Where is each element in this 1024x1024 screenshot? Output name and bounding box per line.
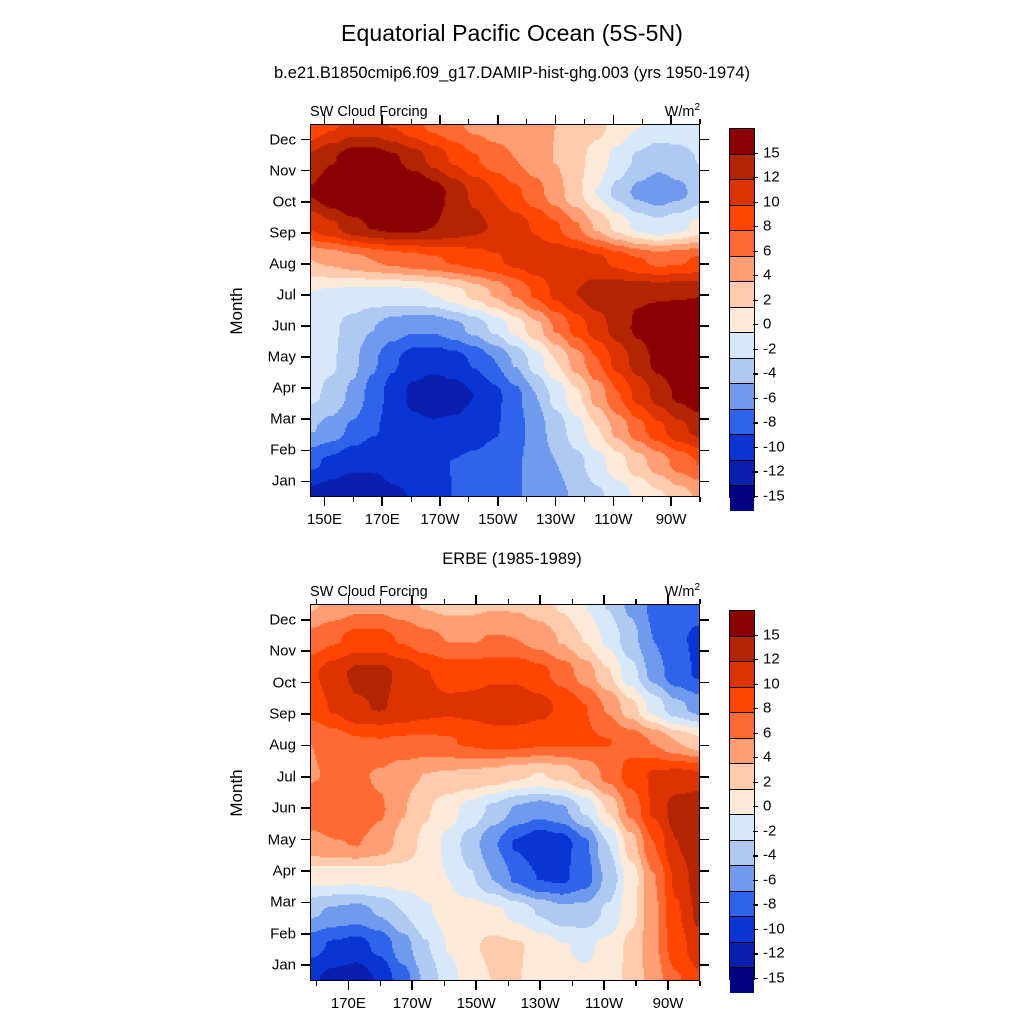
y-axis-label: Aug xyxy=(248,737,296,754)
y-tick-right xyxy=(700,201,709,203)
x-axis-label: 130W xyxy=(536,511,575,528)
colorbar-swatch xyxy=(730,129,754,155)
colorbar-swatch xyxy=(730,461,754,487)
colorbar-tick xyxy=(753,300,758,301)
colorbar-label: -15 xyxy=(763,488,785,505)
colorbar-swatch xyxy=(730,713,754,739)
y-axis-label: Aug xyxy=(248,255,296,272)
x-axis-label: 90W xyxy=(656,511,687,528)
colorbar-tick xyxy=(753,202,758,203)
colorbar-swatch xyxy=(730,917,754,943)
panel-header-erbe: SW Cloud Forcing W/m2 xyxy=(310,578,700,600)
colorbar-swatch xyxy=(730,943,754,969)
colorbar-tick xyxy=(753,496,758,497)
panel-header-model: SW Cloud Forcing W/m2 xyxy=(310,98,700,120)
colorbar-label: 15 xyxy=(763,626,780,643)
x-tick-major xyxy=(670,497,672,506)
colorbar-swatch xyxy=(730,611,754,637)
colorbar-tick xyxy=(753,855,758,856)
colorbar-label: -2 xyxy=(763,340,776,357)
y-tick-right xyxy=(700,481,709,483)
variable-label-model: SW Cloud Forcing xyxy=(310,104,428,120)
colorbar-tick xyxy=(753,733,758,734)
colorbar-model: 15121086420-2-4-6-8-10-12-15 xyxy=(729,128,799,496)
y-axis-label: Feb xyxy=(248,442,296,459)
units-label-erbe: W/m2 xyxy=(665,582,700,600)
colorbar-gradient xyxy=(729,610,755,980)
colorbar-swatch xyxy=(730,359,754,385)
units-label-model: W/m2 xyxy=(665,102,700,120)
y-tick xyxy=(301,263,310,265)
colorbar-tick xyxy=(753,422,758,423)
colorbar-label: 0 xyxy=(763,316,771,333)
y-axis-label: Sep xyxy=(248,705,296,722)
colorbar-label: -8 xyxy=(763,896,776,913)
y-axis-label: May xyxy=(248,831,296,848)
x-tick-major xyxy=(439,497,441,506)
x-axis-label: 130W xyxy=(521,995,560,1012)
colorbar-swatch xyxy=(730,892,754,918)
colorbar-tick xyxy=(753,978,758,979)
colorbar-label: -12 xyxy=(763,945,785,962)
x-tick-minor xyxy=(380,981,381,986)
y-tick-right xyxy=(700,387,709,389)
colorbar-swatch xyxy=(730,739,754,765)
colorbar-gradient xyxy=(729,128,755,498)
colorbar-swatch xyxy=(730,866,754,892)
colorbar-swatch xyxy=(730,333,754,359)
colorbar-swatch xyxy=(730,841,754,867)
x-axis-label: 170E xyxy=(331,995,366,1012)
colorbar-swatch xyxy=(730,206,754,232)
y-axis-label: May xyxy=(248,349,296,366)
y-axis-label: Sep xyxy=(248,224,296,241)
erbe-subtitle: ERBE (1985-1989) xyxy=(0,550,1024,569)
y-tick xyxy=(301,682,310,684)
x-axis-label: 170W xyxy=(393,995,432,1012)
x-tick-major xyxy=(555,497,557,506)
y-tick xyxy=(301,650,310,652)
colorbar-tick xyxy=(753,708,758,709)
colorbar-swatch xyxy=(730,435,754,461)
x-axis-label: 150W xyxy=(457,995,496,1012)
y-tick-right xyxy=(700,418,709,420)
y-tick-right xyxy=(700,263,709,265)
y-tick xyxy=(301,325,310,327)
colorbar-label: 12 xyxy=(763,651,780,668)
x-tick-major xyxy=(324,497,326,506)
colorbar-tick xyxy=(753,447,758,448)
y-tick xyxy=(301,745,310,747)
y-tick-right xyxy=(700,745,709,747)
colorbar-label: 6 xyxy=(763,242,771,259)
x-axis-label: 110W xyxy=(594,511,632,528)
colorbar-tick xyxy=(753,806,758,807)
y-tick-right xyxy=(700,902,709,904)
x-tick-minor xyxy=(411,497,412,502)
colorbar-tick xyxy=(753,349,758,350)
x-tick-minor xyxy=(468,497,469,502)
y-axis-label: Feb xyxy=(248,925,296,942)
y-tick xyxy=(301,481,310,483)
x-tick-minor xyxy=(699,497,700,502)
y-axis-label: Dec xyxy=(248,611,296,628)
y-tick-right xyxy=(700,933,709,935)
variable-label-erbe: SW Cloud Forcing xyxy=(310,584,428,600)
y-tick-right xyxy=(700,839,709,841)
x-tick-major xyxy=(613,497,615,506)
colorbar-label: -12 xyxy=(763,463,785,480)
y-axis-label: Jul xyxy=(248,286,296,303)
colorbar-tick xyxy=(753,471,758,472)
colorbar-swatch xyxy=(730,155,754,181)
colorbar-label: 0 xyxy=(763,798,771,815)
colorbar-swatch xyxy=(730,410,754,436)
y-axis-label: Jan xyxy=(248,473,296,490)
colorbar-label: -4 xyxy=(763,365,776,382)
y-tick xyxy=(301,964,310,966)
y-axis-label: Nov xyxy=(248,643,296,660)
y-tick xyxy=(301,713,310,715)
colorbar-swatch xyxy=(730,968,754,993)
colorbar-erbe: 15121086420-2-4-6-8-10-12-15 xyxy=(729,610,799,978)
x-tick-minor xyxy=(584,497,585,502)
y-axis-label: Oct xyxy=(248,674,296,691)
colorbar-tick xyxy=(753,904,758,905)
colorbar-tick xyxy=(753,275,758,276)
colorbar-tick xyxy=(753,373,758,374)
colorbar-label: -6 xyxy=(763,871,776,888)
x-tick-minor xyxy=(444,981,445,986)
y-tick xyxy=(301,776,310,778)
colorbar-label: 12 xyxy=(763,169,780,186)
colorbar-label: 15 xyxy=(763,144,780,161)
y-tick-right xyxy=(700,870,709,872)
y-tick xyxy=(301,807,310,809)
y-axis-label: Mar xyxy=(248,894,296,911)
y-tick-right xyxy=(700,139,709,141)
y-tick xyxy=(301,418,310,420)
x-tick-major xyxy=(539,981,541,990)
y-axis-label: Dec xyxy=(248,131,296,148)
colorbar-swatch xyxy=(730,257,754,283)
colorbar-tick xyxy=(753,251,758,252)
y-tick-right xyxy=(700,294,709,296)
colorbar-label: 2 xyxy=(763,773,771,790)
colorbar-label: 8 xyxy=(763,700,771,717)
colorbar-label: 8 xyxy=(763,218,771,235)
colorbar-swatch xyxy=(730,486,754,511)
colorbar-tick xyxy=(753,880,758,881)
contour-plot-erbe xyxy=(310,604,700,981)
y-tick xyxy=(301,294,310,296)
colorbar-swatch xyxy=(730,662,754,688)
colorbar-label: 10 xyxy=(763,675,780,692)
x-tick-minor xyxy=(635,981,636,986)
x-tick-minor xyxy=(526,497,527,502)
colorbar-label: -10 xyxy=(763,438,785,455)
y-tick-right xyxy=(700,356,709,358)
x-tick-major xyxy=(381,497,383,506)
x-axis-label: 90W xyxy=(653,995,684,1012)
y-tick xyxy=(301,201,310,203)
model-subtitle: b.e21.B1850cmip6.f09_g17.DAMIP-hist-ghg.… xyxy=(0,64,1024,83)
colorbar-swatch xyxy=(730,282,754,308)
colorbar-tick xyxy=(753,831,758,832)
x-tick-minor xyxy=(316,981,317,986)
y-tick-right xyxy=(700,170,709,172)
y-tick xyxy=(301,170,310,172)
colorbar-swatch xyxy=(730,815,754,841)
y-axis-title: Month xyxy=(227,266,247,356)
x-axis-label: 110W xyxy=(585,995,623,1012)
colorbar-swatch xyxy=(730,764,754,790)
y-axis-label: Mar xyxy=(248,411,296,428)
y-tick xyxy=(301,387,310,389)
y-tick-right xyxy=(700,776,709,778)
colorbar-label: -10 xyxy=(763,920,785,937)
colorbar-label: -15 xyxy=(763,970,785,987)
colorbar-swatch xyxy=(730,688,754,714)
x-tick-major xyxy=(497,497,499,506)
colorbar-label: -8 xyxy=(763,414,776,431)
y-tick-right xyxy=(700,450,709,452)
y-tick-right xyxy=(700,682,709,684)
colorbar-tick xyxy=(753,757,758,758)
colorbar-tick xyxy=(753,153,758,154)
y-tick-right xyxy=(700,713,709,715)
y-axis-label: Nov xyxy=(248,162,296,179)
y-axis-label: Oct xyxy=(248,193,296,210)
y-tick-right xyxy=(700,964,709,966)
y-axis-label: Jul xyxy=(248,768,296,785)
colorbar-swatch xyxy=(730,231,754,257)
colorbar-label: -6 xyxy=(763,389,776,406)
colorbar-swatch xyxy=(730,637,754,663)
y-tick xyxy=(301,933,310,935)
y-tick xyxy=(301,619,310,621)
x-axis-label: 170W xyxy=(420,511,459,528)
colorbar-label: 2 xyxy=(763,291,771,308)
colorbar-tick xyxy=(753,398,758,399)
x-tick-minor xyxy=(699,981,700,986)
y-axis-title: Month xyxy=(227,748,247,838)
contour-plot-model xyxy=(310,124,700,497)
y-tick xyxy=(301,870,310,872)
page-title: Equatorial Pacific Ocean (5S-5N) xyxy=(0,20,1024,47)
colorbar-tick xyxy=(753,684,758,685)
colorbar-swatch xyxy=(730,384,754,410)
x-tick-major xyxy=(667,981,669,990)
colorbar-label: 4 xyxy=(763,749,771,766)
x-tick-minor xyxy=(508,981,509,986)
x-axis-label: 150E xyxy=(307,511,342,528)
y-tick xyxy=(301,839,310,841)
y-tick xyxy=(301,232,310,234)
colorbar-tick xyxy=(753,659,758,660)
x-tick-minor xyxy=(572,981,573,986)
x-tick-major xyxy=(603,981,605,990)
x-tick-major xyxy=(475,981,477,990)
colorbar-label: -4 xyxy=(763,847,776,864)
colorbar-swatch xyxy=(730,180,754,206)
colorbar-label: -2 xyxy=(763,822,776,839)
colorbar-swatch xyxy=(730,790,754,816)
y-tick-right xyxy=(700,807,709,809)
colorbar-label: 10 xyxy=(763,193,780,210)
y-tick-right xyxy=(700,232,709,234)
x-axis-label: 150W xyxy=(478,511,517,528)
x-tick-minor xyxy=(642,497,643,502)
colorbar-label: 4 xyxy=(763,267,771,284)
y-axis-label: Jun xyxy=(248,800,296,817)
y-axis-label: Jun xyxy=(248,318,296,335)
colorbar-tick xyxy=(753,782,758,783)
colorbar-tick xyxy=(753,324,758,325)
y-tick xyxy=(301,356,310,358)
x-tick-minor xyxy=(353,497,354,502)
y-tick xyxy=(301,902,310,904)
y-axis-label: Apr xyxy=(248,380,296,397)
figure-canvas: Equatorial Pacific Ocean (5S-5N) b.e21.B… xyxy=(0,0,1024,1024)
y-tick-right xyxy=(700,619,709,621)
colorbar-tick xyxy=(753,226,758,227)
x-axis-label: 170E xyxy=(365,511,400,528)
colorbar-tick xyxy=(753,953,758,954)
y-tick xyxy=(301,139,310,141)
colorbar-tick xyxy=(753,177,758,178)
y-axis-label: Apr xyxy=(248,863,296,880)
y-tick-right xyxy=(700,325,709,327)
x-tick-major xyxy=(348,981,350,990)
colorbar-swatch xyxy=(730,308,754,334)
colorbar-tick xyxy=(753,635,758,636)
colorbar-tick xyxy=(753,929,758,930)
x-tick-major xyxy=(411,981,413,990)
y-tick-right xyxy=(700,650,709,652)
y-tick xyxy=(301,450,310,452)
y-axis-label: Jan xyxy=(248,957,296,974)
colorbar-label: 6 xyxy=(763,724,771,741)
